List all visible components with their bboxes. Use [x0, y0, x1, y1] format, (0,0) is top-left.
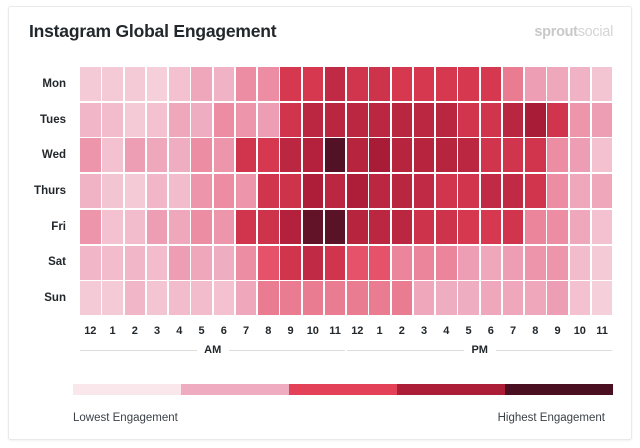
heatmap-cell[interactable] — [503, 67, 524, 101]
heatmap-cell[interactable] — [592, 210, 613, 244]
heatmap-cell[interactable] — [525, 210, 546, 244]
day-label-fri: Fri — [10, 221, 66, 233]
heatmap-cell[interactable] — [147, 210, 168, 244]
heatmap-cell[interactable] — [392, 174, 413, 208]
heatmap-cell[interactable] — [392, 138, 413, 172]
heatmap-cell[interactable] — [258, 281, 279, 315]
heatmap-cell[interactable] — [303, 246, 324, 280]
heatmap-cell[interactable] — [125, 138, 146, 172]
heatmap-cell[interactable] — [481, 210, 502, 244]
heatmap-cell[interactable] — [525, 67, 546, 101]
heatmap-cell[interactable] — [280, 281, 301, 315]
heatmap-cell[interactable] — [280, 174, 301, 208]
heatmap-cell[interactable] — [280, 246, 301, 280]
heatmap-cell[interactable] — [125, 210, 146, 244]
legend-swatch-4 — [505, 384, 613, 395]
heatmap-cell[interactable] — [169, 210, 190, 244]
heatmap-cell[interactable] — [147, 246, 168, 280]
heatmap-cell[interactable] — [214, 67, 235, 101]
heatmap-cell[interactable] — [458, 210, 479, 244]
heatmap-cell[interactable] — [147, 281, 168, 315]
heatmap-cell[interactable] — [325, 138, 346, 172]
heatmap-cell[interactable] — [80, 103, 101, 137]
heatmap-cell[interactable] — [347, 138, 368, 172]
heatmap-cell[interactable] — [303, 138, 324, 172]
heatmap-cell[interactable] — [191, 281, 212, 315]
heatmap-cell[interactable] — [436, 246, 457, 280]
heatmap-cell[interactable] — [125, 67, 146, 101]
heatmap-cell[interactable] — [125, 103, 146, 137]
heatmap-cell[interactable] — [481, 246, 502, 280]
am-band-label-rule — [80, 350, 197, 351]
heatmap-cell[interactable] — [347, 103, 368, 137]
heatmap-cell[interactable] — [214, 138, 235, 172]
heatmap-cell[interactable] — [147, 67, 168, 101]
heatmap-cell[interactable] — [191, 138, 212, 172]
hour-label-2: 2 — [125, 325, 146, 337]
heatmap-cell[interactable] — [547, 174, 568, 208]
hour-label-19: 7 — [503, 325, 524, 337]
heatmap-cell[interactable] — [570, 67, 591, 101]
heatmap-grid: MonTuesWedThursFriSatSun1212345678910111… — [9, 7, 631, 439]
heatmap-cell[interactable] — [525, 246, 546, 280]
hour-label-3: 3 — [147, 325, 168, 337]
heatmap-cell[interactable] — [303, 174, 324, 208]
heatmap-cell[interactable] — [280, 67, 301, 101]
heatmap-cell[interactable] — [191, 103, 212, 137]
heatmap-cell[interactable] — [592, 103, 613, 137]
hour-label-23: 11 — [592, 325, 613, 337]
heatmap-cell[interactable] — [347, 67, 368, 101]
heatmap-cell[interactable] — [102, 67, 123, 101]
heatmap-cell[interactable] — [592, 138, 613, 172]
heatmap-cell[interactable] — [547, 138, 568, 172]
day-label-sun: Sun — [10, 292, 66, 304]
heatmap-cell[interactable] — [570, 210, 591, 244]
heatmap-cell[interactable] — [392, 246, 413, 280]
heatmap-cell[interactable] — [236, 103, 257, 137]
heatmap-cell[interactable] — [236, 246, 257, 280]
heatmap-cell[interactable] — [436, 103, 457, 137]
day-label-tues: Tues — [10, 114, 66, 126]
heatmap-cell[interactable] — [458, 281, 479, 315]
heatmap-cell[interactable] — [303, 210, 324, 244]
hour-label-22: 10 — [570, 325, 591, 337]
heatmap-cell[interactable] — [547, 210, 568, 244]
heatmap-cell[interactable] — [191, 67, 212, 101]
heatmap-cell[interactable] — [481, 103, 502, 137]
heatmap-cell[interactable] — [369, 246, 390, 280]
heatmap-cell[interactable] — [191, 174, 212, 208]
heatmap-cell[interactable] — [258, 67, 279, 101]
heatmap-cell[interactable] — [80, 174, 101, 208]
heatmap-cell[interactable] — [147, 174, 168, 208]
heatmap-cell[interactable] — [169, 103, 190, 137]
heatmap-cell[interactable] — [280, 138, 301, 172]
heatmap-cell[interactable] — [147, 138, 168, 172]
heatmap-cell[interactable] — [592, 246, 613, 280]
heatmap-cell[interactable] — [325, 103, 346, 137]
hour-label-6: 6 — [214, 325, 235, 337]
legend-lowest-label: Lowest Engagement — [73, 412, 178, 424]
heatmap-cell[interactable] — [503, 246, 524, 280]
heatmap-cell[interactable] — [125, 281, 146, 315]
heatmap-cell[interactable] — [325, 174, 346, 208]
heatmap-cell[interactable] — [458, 174, 479, 208]
heatmap-cell[interactable] — [147, 103, 168, 137]
am-band-label-rule — [229, 350, 346, 351]
heatmap-cell[interactable] — [258, 246, 279, 280]
hour-label-20: 8 — [525, 325, 546, 337]
hour-label-18: 6 — [481, 325, 502, 337]
heatmap-cell[interactable] — [236, 281, 257, 315]
heatmap-cell[interactable] — [236, 67, 257, 101]
heatmap-cell[interactable] — [169, 138, 190, 172]
heatmap-cell[interactable] — [102, 103, 123, 137]
hour-label-0: 12 — [80, 325, 101, 337]
heatmap-cell[interactable] — [102, 174, 123, 208]
heatmap-cell[interactable] — [414, 246, 435, 280]
heatmap-cell[interactable] — [102, 210, 123, 244]
day-label-wed: Wed — [10, 149, 66, 161]
heatmap-cell[interactable] — [481, 281, 502, 315]
heatmap-cell[interactable] — [236, 174, 257, 208]
heatmap-cell[interactable] — [414, 174, 435, 208]
heatmap-cell[interactable] — [80, 210, 101, 244]
heatmap-cell[interactable] — [325, 246, 346, 280]
heatmap-cell[interactable] — [80, 67, 101, 101]
hour-label-15: 3 — [414, 325, 435, 337]
pm-band-label-rule — [496, 350, 613, 351]
heatmap-cell[interactable] — [80, 138, 101, 172]
heatmap-cell[interactable] — [280, 103, 301, 137]
heatmap-cell[interactable] — [436, 174, 457, 208]
heatmap-cell[interactable] — [458, 138, 479, 172]
heatmap-cell[interactable] — [347, 281, 368, 315]
heatmap-cell[interactable] — [570, 103, 591, 137]
heatmap-cell[interactable] — [303, 281, 324, 315]
heatmap-cell[interactable] — [347, 210, 368, 244]
heatmap-cell[interactable] — [325, 281, 346, 315]
hour-label-13: 1 — [369, 325, 390, 337]
hour-label-11: 11 — [325, 325, 346, 337]
hour-label-1: 1 — [102, 325, 123, 337]
heatmap-cell[interactable] — [80, 281, 101, 315]
heatmap-cell[interactable] — [280, 210, 301, 244]
hour-label-10: 10 — [303, 325, 324, 337]
heatmap-cell[interactable] — [191, 246, 212, 280]
heatmap-cell[interactable] — [525, 174, 546, 208]
heatmap-cell[interactable] — [570, 174, 591, 208]
heatmap-cell[interactable] — [503, 103, 524, 137]
heatmap-cell[interactable] — [592, 67, 613, 101]
heatmap-cell[interactable] — [503, 281, 524, 315]
heatmap-cell[interactable] — [458, 67, 479, 101]
day-label-mon: Mon — [10, 78, 66, 90]
heatmap-cell[interactable] — [503, 174, 524, 208]
heatmap-cell[interactable] — [570, 138, 591, 172]
heatmap-cell[interactable] — [525, 103, 546, 137]
heatmap-cell[interactable] — [503, 138, 524, 172]
heatmap-cell[interactable] — [436, 138, 457, 172]
heatmap-cell[interactable] — [347, 246, 368, 280]
heatmap-cell[interactable] — [214, 246, 235, 280]
heatmap-cell[interactable] — [414, 210, 435, 244]
heatmap-cell[interactable] — [325, 210, 346, 244]
heatmap-cell[interactable] — [414, 103, 435, 137]
heatmap-cell[interactable] — [436, 210, 457, 244]
heatmap-cell[interactable] — [258, 138, 279, 172]
heatmap-cell[interactable] — [392, 210, 413, 244]
hour-label-21: 9 — [547, 325, 568, 337]
heatmap-cell[interactable] — [169, 174, 190, 208]
hour-label-8: 8 — [258, 325, 279, 337]
legend-highest-label: Highest Engagement — [498, 412, 605, 424]
heatmap-cell[interactable] — [125, 174, 146, 208]
heatmap-cell[interactable] — [169, 67, 190, 101]
heatmap-cell[interactable] — [214, 103, 235, 137]
heatmap-cell[interactable] — [369, 174, 390, 208]
heatmap-cell[interactable] — [525, 138, 546, 172]
pm-band-label: PM — [460, 344, 500, 356]
hour-label-9: 9 — [280, 325, 301, 337]
legend-swatch-1 — [181, 384, 289, 395]
heatmap-cell[interactable] — [503, 210, 524, 244]
heatmap-cell[interactable] — [303, 103, 324, 137]
heatmap-cell[interactable] — [169, 281, 190, 315]
heatmap-cell[interactable] — [369, 281, 390, 315]
heatmap-cell[interactable] — [102, 281, 123, 315]
heatmap-cell[interactable] — [392, 67, 413, 101]
heatmap-cell[interactable] — [392, 281, 413, 315]
heatmap-cell[interactable] — [325, 67, 346, 101]
heatmap-cell[interactable] — [236, 210, 257, 244]
heatmap-cell[interactable] — [258, 103, 279, 137]
heatmap-cell[interactable] — [570, 281, 591, 315]
chart-card: Instagram Global Engagement sproutsocial… — [8, 6, 632, 440]
heatmap-cell[interactable] — [458, 246, 479, 280]
heatmap-cell[interactable] — [436, 67, 457, 101]
hour-label-17: 5 — [458, 325, 479, 337]
heatmap-cell[interactable] — [369, 138, 390, 172]
heatmap-cell[interactable] — [102, 138, 123, 172]
heatmap-cell[interactable] — [392, 103, 413, 137]
heatmap-cell[interactable] — [525, 281, 546, 315]
heatmap-cell[interactable] — [481, 67, 502, 101]
heatmap-cell[interactable] — [214, 174, 235, 208]
pm-band-label-rule — [347, 350, 464, 351]
heatmap-cell[interactable] — [169, 246, 190, 280]
heatmap-cell[interactable] — [258, 174, 279, 208]
heatmap-cell[interactable] — [547, 103, 568, 137]
hour-label-12: 12 — [347, 325, 368, 337]
heatmap-cell[interactable] — [258, 210, 279, 244]
heatmap-cell[interactable] — [214, 281, 235, 315]
heatmap-cell[interactable] — [436, 281, 457, 315]
legend-swatch-0 — [73, 384, 181, 395]
day-label-thurs: Thurs — [10, 185, 66, 197]
heatmap-cell[interactable] — [547, 246, 568, 280]
heatmap-cell[interactable] — [369, 103, 390, 137]
legend-swatch-2 — [289, 384, 397, 395]
heatmap-cell[interactable] — [303, 67, 324, 101]
heatmap-cell[interactable] — [481, 174, 502, 208]
heatmap-cell[interactable] — [592, 281, 613, 315]
am-band-label: AM — [193, 344, 233, 356]
hour-label-5: 5 — [191, 325, 212, 337]
heatmap-cell[interactable] — [236, 138, 257, 172]
heatmap-cell[interactable] — [414, 281, 435, 315]
heatmap-cell[interactable] — [347, 174, 368, 208]
heatmap-cell[interactable] — [547, 281, 568, 315]
heatmap-cell[interactable] — [214, 210, 235, 244]
heatmap-cell[interactable] — [414, 67, 435, 101]
heatmap-cell[interactable] — [191, 210, 212, 244]
day-label-sat: Sat — [10, 256, 66, 268]
heatmap-cell[interactable] — [592, 174, 613, 208]
heatmap-cell[interactable] — [458, 103, 479, 137]
hour-label-16: 4 — [436, 325, 457, 337]
heatmap-cell[interactable] — [369, 210, 390, 244]
heatmap-cell[interactable] — [80, 246, 101, 280]
hour-label-7: 7 — [236, 325, 257, 337]
heatmap-cell[interactable] — [369, 67, 390, 101]
heatmap-cell[interactable] — [102, 246, 123, 280]
heatmap-cell[interactable] — [481, 138, 502, 172]
heatmap-cell[interactable] — [570, 246, 591, 280]
hour-label-4: 4 — [169, 325, 190, 337]
hour-label-14: 2 — [392, 325, 413, 337]
heatmap-cell[interactable] — [414, 138, 435, 172]
heatmap-cell[interactable] — [125, 246, 146, 280]
heatmap-cell[interactable] — [547, 67, 568, 101]
legend-swatch-3 — [397, 384, 505, 395]
